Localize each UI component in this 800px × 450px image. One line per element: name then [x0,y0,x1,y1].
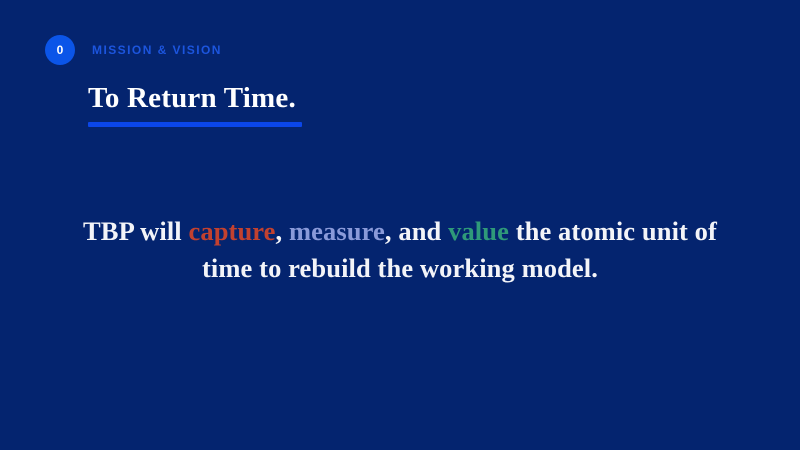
title-block: To Return Time. [88,82,302,127]
statement-part-2: , [276,216,289,246]
section-label: MISSION & VISION [92,44,222,56]
title-underline-accent [88,122,302,127]
statement-keyword-capture: capture [188,216,275,246]
page-title: To Return Time. [88,82,302,115]
statement-keyword-value: value [448,216,509,246]
step-number-badge: 0 [45,35,75,65]
statement-keyword-measure: measure [289,216,385,246]
statement-part-1: TBP will [83,216,188,246]
statement-part-3: , and [385,216,448,246]
mission-statement: TBP will capture, measure, and value the… [0,213,800,287]
step-number-label: 0 [57,44,64,56]
presentation-slide: 0 MISSION & VISION To Return Time. TBP w… [0,0,800,450]
slide-eyebrow: 0 MISSION & VISION [45,35,222,65]
